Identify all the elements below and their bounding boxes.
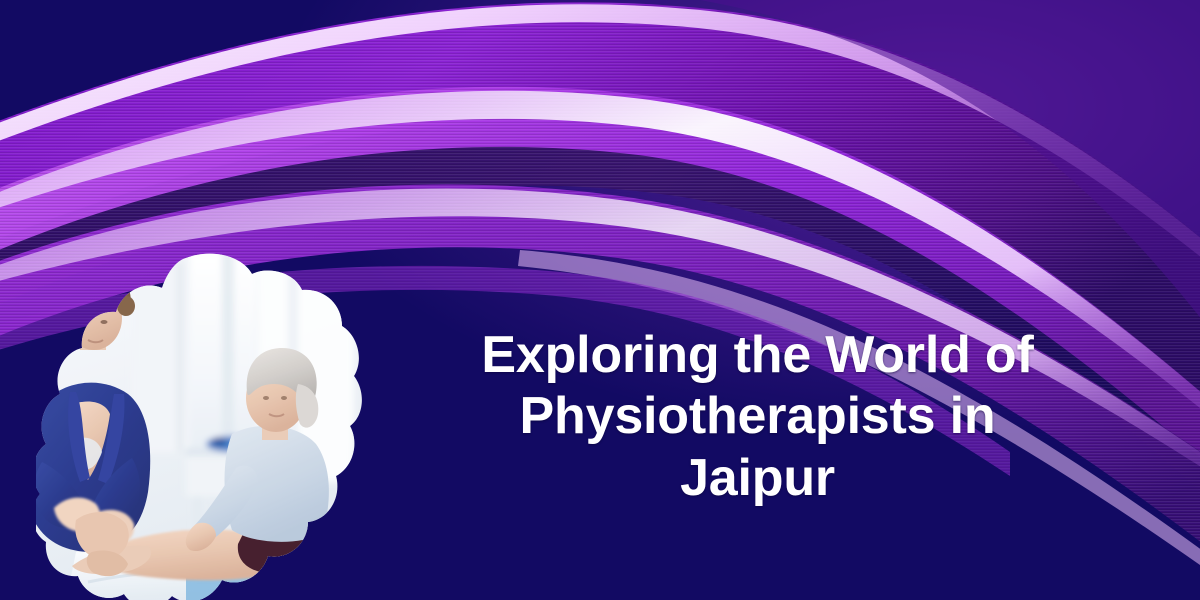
banner-graphic: Exploring the World of Physiotherapists …: [0, 0, 1200, 600]
title-layer: Exploring the World of Physiotherapists …: [0, 0, 1200, 600]
title-line-3: Jaipur: [390, 448, 1125, 509]
title-line-1: Exploring the World of: [390, 325, 1125, 386]
page-title: Exploring the World of Physiotherapists …: [390, 325, 1125, 509]
title-line-2: Physiotherapists in: [390, 386, 1125, 447]
